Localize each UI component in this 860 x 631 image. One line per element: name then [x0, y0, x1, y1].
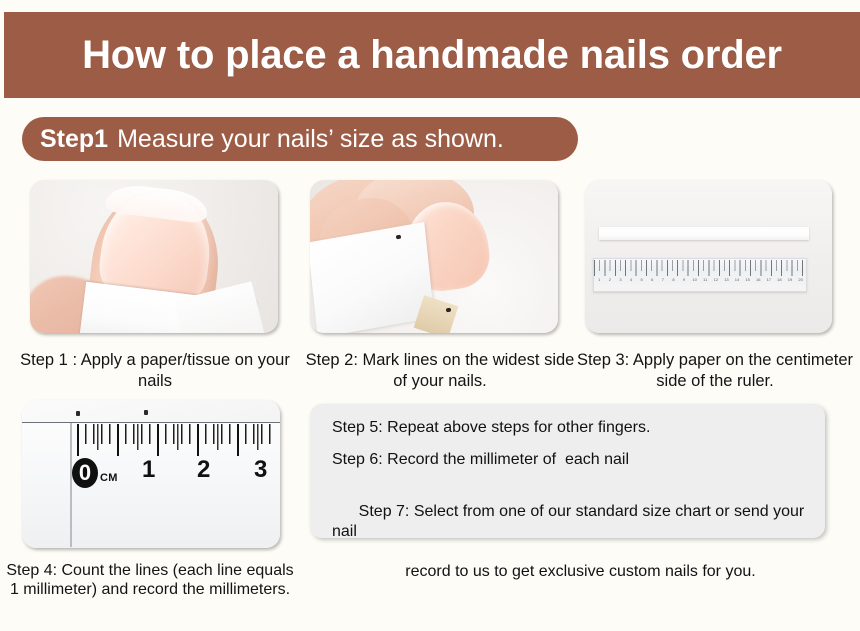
ruler-number: 8	[668, 276, 679, 288]
photo-card-step3: 1 2 3 4 5 6 7 8 9 10 11 12 13 14 15 16 1	[585, 180, 832, 333]
ruler-number: 11	[700, 276, 711, 288]
caption-step2: Step 2: Mark lines on the widest side of…	[300, 350, 580, 392]
steps-5-7-panel: Step 5: Repeat above steps for other fin…	[310, 404, 825, 538]
step7-line-first: Step 7: Select from one of our standard …	[332, 503, 809, 540]
ruler-number: 16	[753, 276, 764, 288]
ruler-pin-dot	[144, 410, 148, 415]
ruler-centimeter-ticks	[77, 424, 273, 456]
ruler-number: 7	[658, 276, 669, 288]
ruler-number: 14	[732, 276, 743, 288]
photo-card-step2	[310, 180, 558, 333]
page-title: How to place a handmade nails order	[82, 35, 782, 75]
ruler-number-1: 1	[142, 458, 155, 482]
step1-banner: Step1 Measure your nails’ size as shown.	[22, 117, 578, 161]
ruler-unit-label: CM	[100, 472, 118, 484]
paper-strip	[310, 222, 434, 333]
caption-step1: Step 1 : Apply a paper/tissue on your na…	[10, 350, 300, 392]
step1-label: Step1	[40, 125, 108, 154]
ruler-number: 19	[785, 276, 796, 288]
step7-line-second: record to us to get exclusive custom nai…	[332, 562, 809, 582]
photo-step4-image: 0 CM 1 2 3	[22, 400, 280, 548]
ruler-number: 18	[774, 276, 785, 288]
ruler-number: 5	[636, 276, 647, 288]
photo-background	[585, 180, 832, 333]
ruler-pin-dot	[76, 411, 80, 416]
ruler-number: 15	[742, 276, 753, 288]
caption-step3: Step 3: Apply paper on the centimeter si…	[570, 350, 860, 392]
photo-step1-image	[30, 180, 278, 333]
ruler-number: 2	[605, 276, 616, 288]
transparent-ruler: 1 2 3 4 5 6 7 8 9 10 11 12 13 14 15 16 1	[593, 258, 807, 292]
ruler-number: 17	[764, 276, 775, 288]
ruler-number: 6	[647, 276, 658, 288]
header-band: How to place a handmade nails order	[4, 12, 860, 98]
ruler-number-3: 3	[254, 458, 267, 482]
ruler-left-edge	[70, 423, 72, 547]
paper-strip	[599, 227, 809, 240]
ruler-number-2: 2	[197, 458, 210, 482]
photo-card-step4: 0 CM 1 2 3	[22, 400, 280, 548]
caption-step4: Step 4: Count the lines (each line equal…	[5, 561, 295, 599]
photo-card-step1	[30, 180, 278, 333]
ruler-number: 9	[679, 276, 690, 288]
ruler-number: 4	[626, 276, 637, 288]
ruler-number: 10	[689, 276, 700, 288]
photo-step3-image: 1 2 3 4 5 6 7 8 9 10 11 12 13 14 15 16 1	[585, 180, 832, 333]
ruler-number: 12	[711, 276, 722, 288]
ruler-numbers: 1 2 3 4 5 6 7 8 9 10 11 12 13 14 15 16 1	[594, 276, 806, 288]
step1-instruction: Measure your nails’ size as shown.	[117, 125, 504, 154]
ruler-number: 13	[721, 276, 732, 288]
ruler-number: 3	[615, 276, 626, 288]
photo-step2-image	[310, 180, 558, 333]
step6-line: Step 6: Record the millimeter of each na…	[332, 450, 809, 470]
ruler-zero-marker: 0	[72, 458, 98, 488]
ruler-number: 1	[594, 276, 605, 288]
ruler-number: 20	[795, 276, 806, 288]
step7-line: Step 7: Select from one of our standard …	[332, 482, 809, 622]
ruler-major-ticks	[594, 260, 806, 276]
step5-line: Step 5: Repeat above steps for other fin…	[332, 418, 809, 438]
instruction-infographic: How to place a handmade nails order Step…	[0, 0, 860, 631]
